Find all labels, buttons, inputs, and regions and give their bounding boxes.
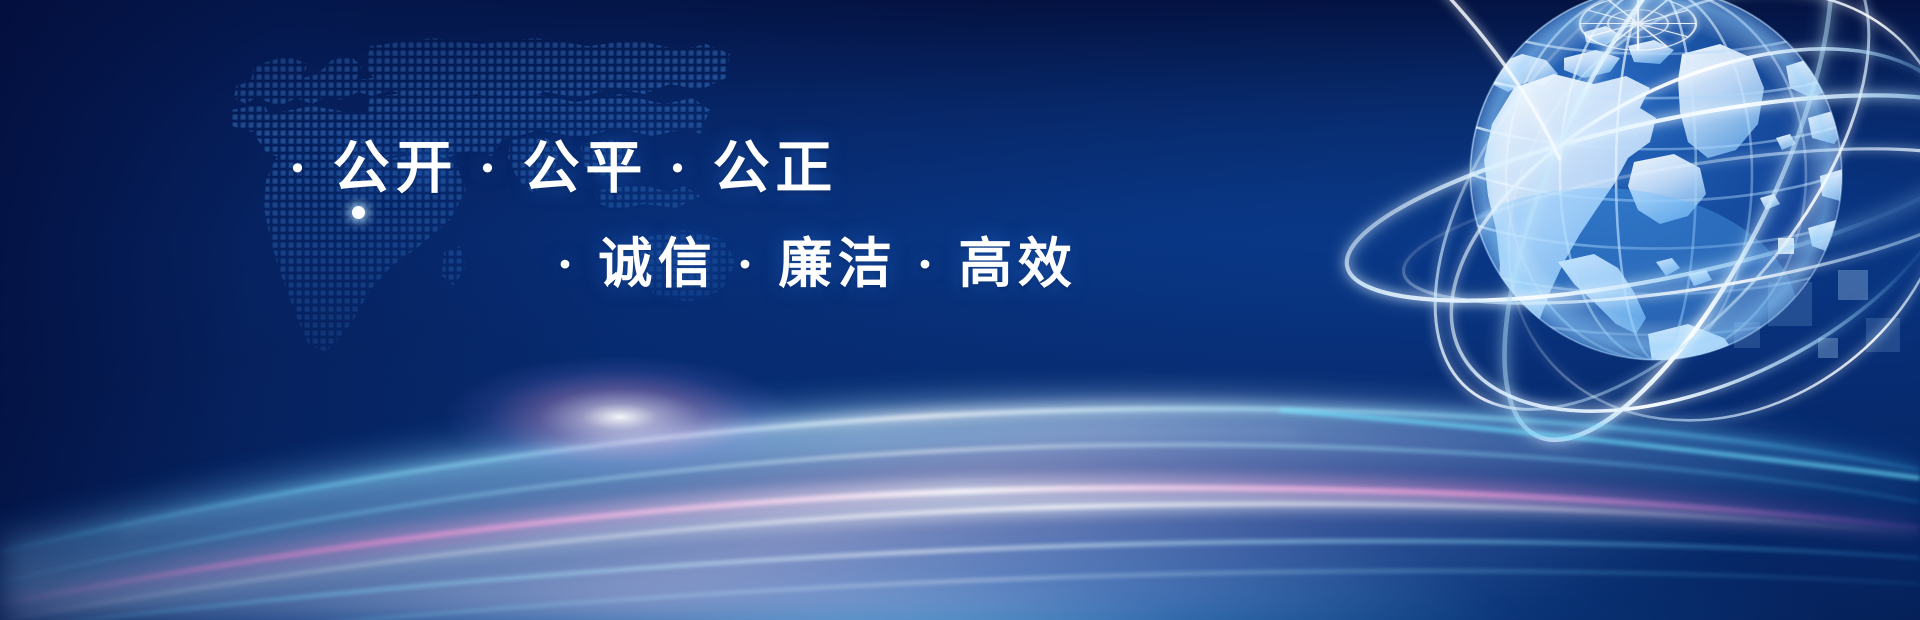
banner-root: · 公开 · 公平 · 公正 · 诚信 · 廉洁 · 高效 [0, 0, 1920, 620]
wireframe-globe [1388, 0, 1908, 422]
dotted-world-map [40, 0, 740, 354]
map-highlight-dot [352, 206, 365, 219]
